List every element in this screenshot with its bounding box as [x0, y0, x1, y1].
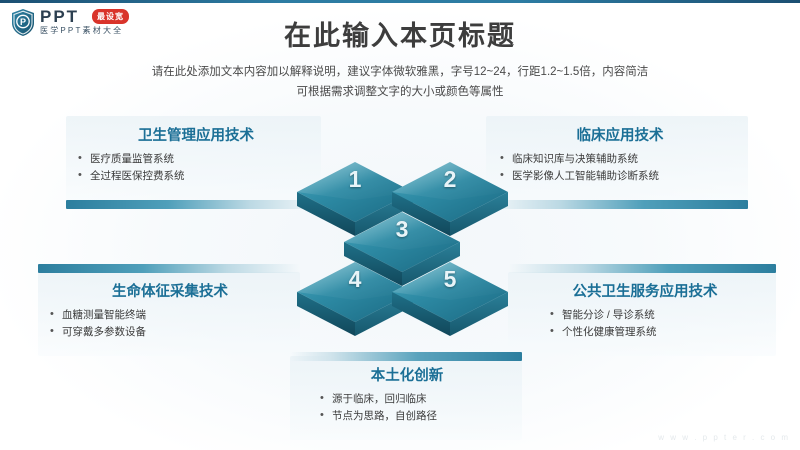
block-list: 医疗质量监管系统 全过程医保控费系统: [76, 151, 316, 185]
accent-bar-bottom-center: [290, 352, 522, 361]
list-item: 血糖测量智能终端: [48, 307, 292, 324]
block-bottom-right: 公共卫生服务应用技术 智能分诊 / 导诊系统 个性化健康管理系统: [520, 280, 770, 341]
iso-box-5[interactable]: 5: [390, 260, 510, 344]
list-item: 可穿戴多参数设备: [48, 324, 292, 341]
list-item: 医疗质量监管系统: [76, 151, 316, 168]
list-item: 节点为思路，自创路径: [318, 408, 514, 425]
list-item: 个性化健康管理系统: [548, 324, 770, 341]
block-list: 智能分诊 / 导诊系统 个性化健康管理系统: [520, 307, 770, 341]
list-item: 医学影像人工智能辅助诊断系统: [498, 168, 742, 185]
page-title: 在此输入本页标题: [0, 14, 800, 53]
block-heading: 临床应用技术: [498, 124, 742, 145]
top-accent-strip: [0, 0, 800, 3]
block-heading: 公共卫生服务应用技术: [520, 280, 770, 301]
list-item: 临床知识库与决策辅助系统: [498, 151, 742, 168]
block-heading: 生命体征采集技术: [48, 280, 292, 301]
footer-watermark: w w w . p p t e r . c o m: [658, 433, 790, 442]
block-heading: 卫生管理应用技术: [76, 124, 316, 145]
slide-canvas: P PPT 最设宽 医学PPT素材大全 在此输入本页标题 请在此处添加文本内容加…: [0, 0, 800, 450]
list-item: 全过程医保控费系统: [76, 168, 316, 185]
block-top-left: 卫生管理应用技术 医疗质量监管系统 全过程医保控费系统: [76, 124, 316, 185]
accent-bar-top-right: [486, 200, 748, 209]
block-list: 源于临床，回归临床 节点为思路，自创路径: [300, 391, 514, 425]
page-subtitle: 请在此处添加文本内容加以解释说明，建议字体微软雅黑，字号12~24，行距1.2~…: [90, 62, 710, 102]
list-item: 源于临床，回归临床: [318, 391, 514, 408]
accent-bar-bottom-right: [508, 264, 776, 273]
block-list: 血糖测量智能终端 可穿戴多参数设备: [48, 307, 292, 341]
list-item: 智能分诊 / 导诊系统: [548, 307, 770, 324]
block-heading: 本土化创新: [300, 364, 514, 385]
subtitle-line-1: 请在此处添加文本内容加以解释说明，建议字体微软雅黑，字号12~24，行距1.2~…: [90, 62, 710, 82]
block-list: 临床知识库与决策辅助系统 医学影像人工智能辅助诊断系统: [498, 151, 742, 185]
accent-bar-top-left: [66, 200, 321, 209]
accent-bar-bottom-left: [38, 264, 300, 273]
block-top-right: 临床应用技术 临床知识库与决策辅助系统 医学影像人工智能辅助诊断系统: [498, 124, 742, 185]
block-bottom-center: 本土化创新 源于临床，回归临床 节点为思路，自创路径: [300, 364, 514, 425]
block-bottom-left: 生命体征采集技术 血糖测量智能终端 可穿戴多参数设备: [48, 280, 292, 341]
isometric-diagram: 1 2 3: [295, 160, 510, 345]
subtitle-line-2: 可根据需求调整文字的大小或颜色等属性: [90, 82, 710, 102]
